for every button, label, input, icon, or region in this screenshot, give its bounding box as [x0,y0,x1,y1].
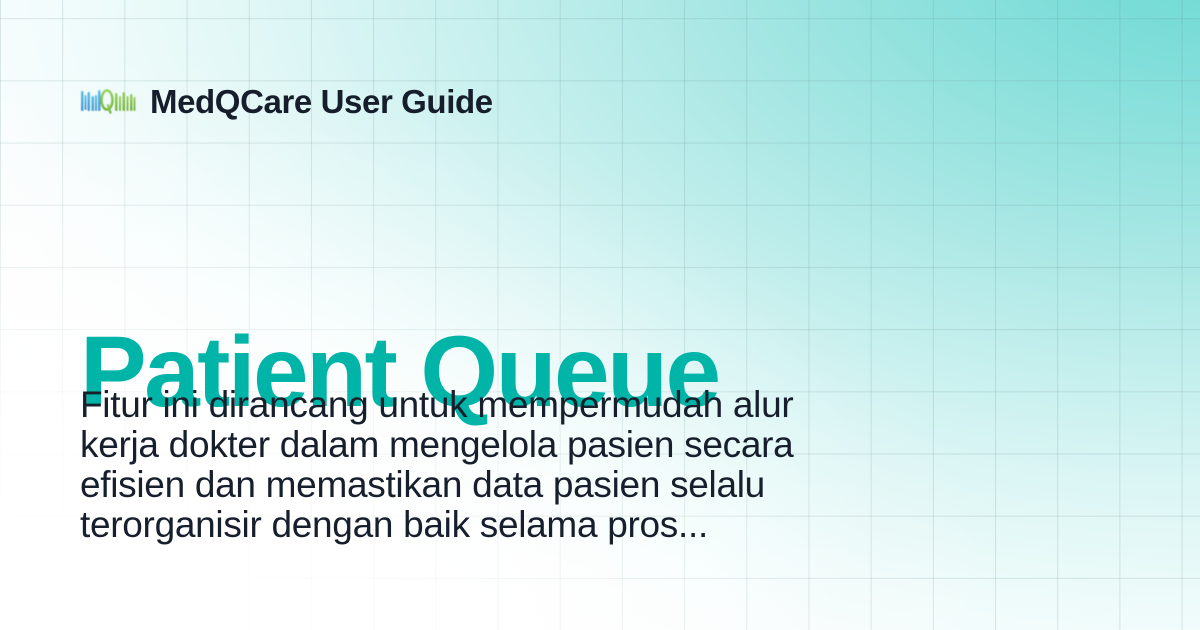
medqcare-logo-icon [80,84,136,118]
page-description: Fitur ini dirancang untuk mempermudah al… [80,385,870,545]
description-line: terorganisir dengan baik selama pros... [80,505,870,545]
description-line: Fitur ini dirancang untuk mempermudah al… [80,385,870,425]
og-card: MedQCare User Guide Patient Queue Fitur … [0,0,1200,630]
card-content: MedQCare User Guide Patient Queue Fitur … [0,0,1200,630]
description-line: efisien dan memastikan data pasien selal… [80,465,870,505]
description-line: kerja dokter dalam mengelola pasien seca… [80,425,870,465]
brand-header: MedQCare User Guide [80,78,493,124]
brand-title: MedQCare User Guide [150,85,493,118]
